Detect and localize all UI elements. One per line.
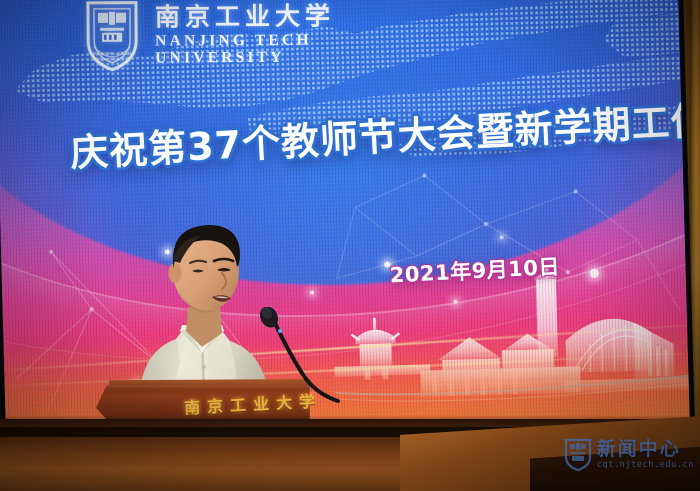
photo-scene: NANJING TECH UNIVERSITY 南京工业大学 NANJING T… — [0, 0, 700, 491]
watermark-text-block: 新闻中心 cqt.njtech.edu.cn — [597, 440, 694, 470]
svg-text:NANJING TECH: NANJING TECH — [93, 51, 132, 56]
watermark-url: cqt.njtech.edu.cn — [597, 461, 694, 470]
watermark-label: 新闻中心 — [597, 440, 694, 459]
njtech-shield-icon — [564, 438, 592, 471]
news-center-watermark: 新闻中心 cqt.njtech.edu.cn — [564, 438, 694, 471]
university-shield-crest-icon: NANJING TECH UNIVERSITY — [83, 0, 141, 73]
gooseneck-microphone-icon — [252, 307, 362, 407]
university-name-en-line2: UNIVERSITY — [155, 49, 335, 67]
university-name-block: 南京工业大学 NANJING TECH UNIVERSITY — [155, 0, 335, 67]
university-name-en-line1: NANJING TECH — [155, 31, 335, 49]
university-masthead: NANJING TECH UNIVERSITY 南京工业大学 NANJING T… — [83, 0, 335, 73]
university-name-cn: 南京工业大学 — [155, 3, 335, 29]
svg-text:UNIVERSITY: UNIVERSITY — [96, 57, 129, 62]
